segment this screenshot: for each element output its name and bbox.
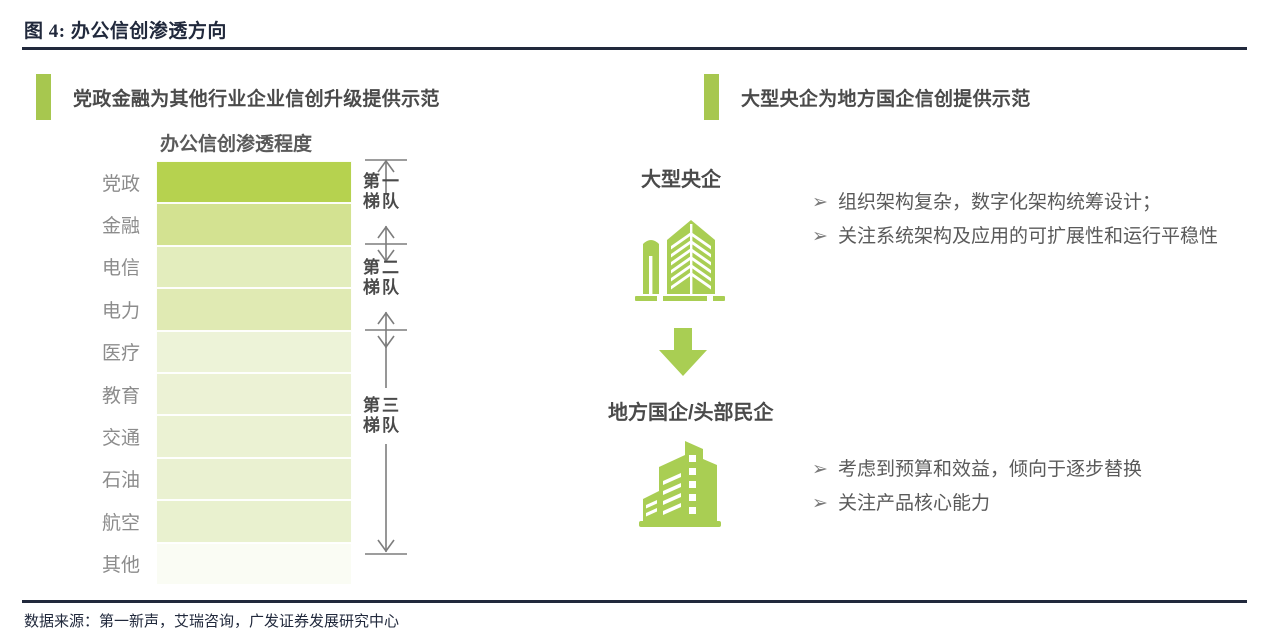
tier-label-line: 梯队 (363, 278, 427, 298)
source-divider (22, 600, 1247, 603)
chart-row: 电力 (68, 288, 378, 330)
chart-row-label: 交通 (68, 423, 156, 450)
bullet-item: ➢考虑到预算和效益，倾向于逐步替换 (812, 455, 1242, 485)
chart-row-bar (156, 415, 352, 457)
bullet-item: ➢组织架构复杂，数字化架构统筹设计； (812, 188, 1242, 218)
chart-row: 其他 (68, 543, 378, 585)
building-cluster-icon (629, 437, 729, 540)
chart-row-bar (156, 203, 352, 245)
chart-row-label: 党政 (68, 169, 156, 196)
chart-row-bar (156, 500, 352, 542)
penetration-bar-chart: 党政金融电信电力医疗教育交通石油航空其他 (68, 161, 378, 585)
accent-bar-icon (36, 74, 51, 120)
chart-row-label: 金融 (68, 211, 156, 238)
bullet-text: 关注系统架构及应用的可扩展性和运行平稳性 (838, 222, 1218, 252)
chart-row-label: 电力 (68, 296, 156, 323)
chart-row: 党政 (68, 161, 378, 203)
tier-label-line: 第一 (363, 172, 427, 192)
chart-row: 交通 (68, 415, 378, 457)
tier-label-line: 梯队 (363, 416, 427, 436)
chart-row-bar (156, 373, 352, 415)
chart-row: 金融 (68, 203, 378, 245)
right-panel-heading: 大型央企为地方国企信创提供示范 (704, 74, 1031, 120)
bullet-text: 关注产品核心能力 (838, 489, 990, 519)
bullet-arrow-icon: ➢ (812, 188, 838, 218)
bullet-text: 组织架构复杂，数字化架构统筹设计； (838, 188, 1161, 218)
tier-label-1: 第一梯队 (363, 172, 427, 212)
bullet-text: 考虑到预算和效益，倾向于逐步替换 (838, 455, 1142, 485)
chart-row-bar (156, 331, 352, 373)
bullet-item: ➢关注系统架构及应用的可扩展性和运行平稳性 (812, 222, 1242, 252)
chart-row-label: 石油 (68, 465, 156, 492)
bullet-arrow-icon: ➢ (812, 489, 838, 519)
chart-row-label: 教育 (68, 381, 156, 408)
tier-label-line: 第三 (363, 396, 427, 416)
bullet-arrow-icon: ➢ (812, 455, 838, 485)
chart-row-label: 航空 (68, 508, 156, 535)
chart-row: 医疗 (68, 331, 378, 373)
chart-title: 办公信创渗透程度 (160, 129, 312, 156)
left-panel-heading-text: 党政金融为其他行业企业信创升级提供示范 (73, 84, 440, 111)
tier-label-2: 第二梯队 (363, 258, 427, 298)
source-note: 数据来源：第一新声，艾瑞咨询，广发证券发展研究中心 (24, 610, 399, 631)
enterprise-top-label: 大型央企 (641, 163, 721, 192)
title-divider (22, 47, 1247, 50)
chart-row: 教育 (68, 373, 378, 415)
chart-row-bar (156, 288, 352, 330)
enterprise-bottom-label: 地方国企/头部民企 (608, 396, 774, 425)
right-panel-heading-text: 大型央企为地方国企信创提供示范 (741, 84, 1031, 111)
down-arrow-icon (655, 326, 711, 383)
tier-label-3: 第三梯队 (363, 396, 427, 436)
chart-row-bar (156, 246, 352, 288)
chart-row: 电信 (68, 246, 378, 288)
tier-label-line: 梯队 (363, 192, 427, 212)
chart-row-bar (156, 543, 352, 585)
tier-label-line: 第二 (363, 258, 427, 278)
office-tower-icon (629, 212, 729, 309)
bullet-arrow-icon: ➢ (812, 222, 838, 252)
chart-row: 石油 (68, 458, 378, 500)
chart-row: 航空 (68, 500, 378, 542)
tier-bracket-column: 第一梯队 第二梯队 第三梯队 (355, 152, 430, 592)
chart-row-label: 电信 (68, 253, 156, 280)
bullet-list-top: ➢组织架构复杂，数字化架构统筹设计；➢关注系统架构及应用的可扩展性和运行平稳性 (812, 188, 1242, 256)
left-panel-heading: 党政金融为其他行业企业信创升级提供示范 (36, 74, 440, 120)
bullet-item: ➢关注产品核心能力 (812, 489, 1242, 519)
chart-row-bar (156, 458, 352, 500)
bullet-list-bottom: ➢考虑到预算和效益，倾向于逐步替换➢关注产品核心能力 (812, 455, 1242, 523)
figure-canvas: 图 4: 办公信创渗透方向 党政金融为其他行业企业信创升级提供示范 大型央企为地… (0, 0, 1269, 643)
tier-bracket-arrows-icon (355, 152, 430, 592)
accent-bar-icon (704, 74, 719, 120)
chart-row-label: 其他 (68, 550, 156, 577)
figure-title: 图 4: 办公信创渗透方向 (24, 16, 227, 43)
chart-row-bar (156, 161, 352, 203)
chart-row-label: 医疗 (68, 338, 156, 365)
